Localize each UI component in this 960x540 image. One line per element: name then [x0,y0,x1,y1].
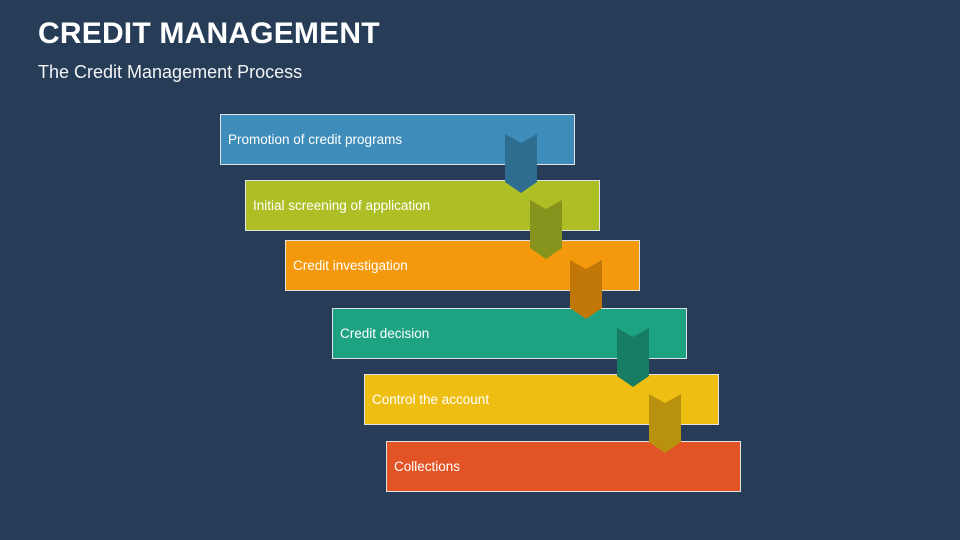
chevron-down-icon [649,394,681,453]
chevron-down-icon [617,328,649,387]
chevron-down-icon [570,260,602,319]
chevron-down-icon [530,200,562,259]
chevron-down-icon [505,134,537,193]
slide-canvas: CREDIT MANAGEMENT The Credit Management … [0,0,960,540]
process-diagram: Promotion of credit programsInitial scre… [0,0,960,540]
process-step-label: Credit decision [340,327,429,341]
process-step-label: Collections [394,460,460,474]
process-step-label: Initial screening of application [253,199,430,213]
process-step[interactable]: Collections [386,441,741,492]
process-step-label: Credit investigation [293,259,408,273]
process-step-label: Control the account [372,393,489,407]
process-step-label: Promotion of credit programs [228,133,402,147]
